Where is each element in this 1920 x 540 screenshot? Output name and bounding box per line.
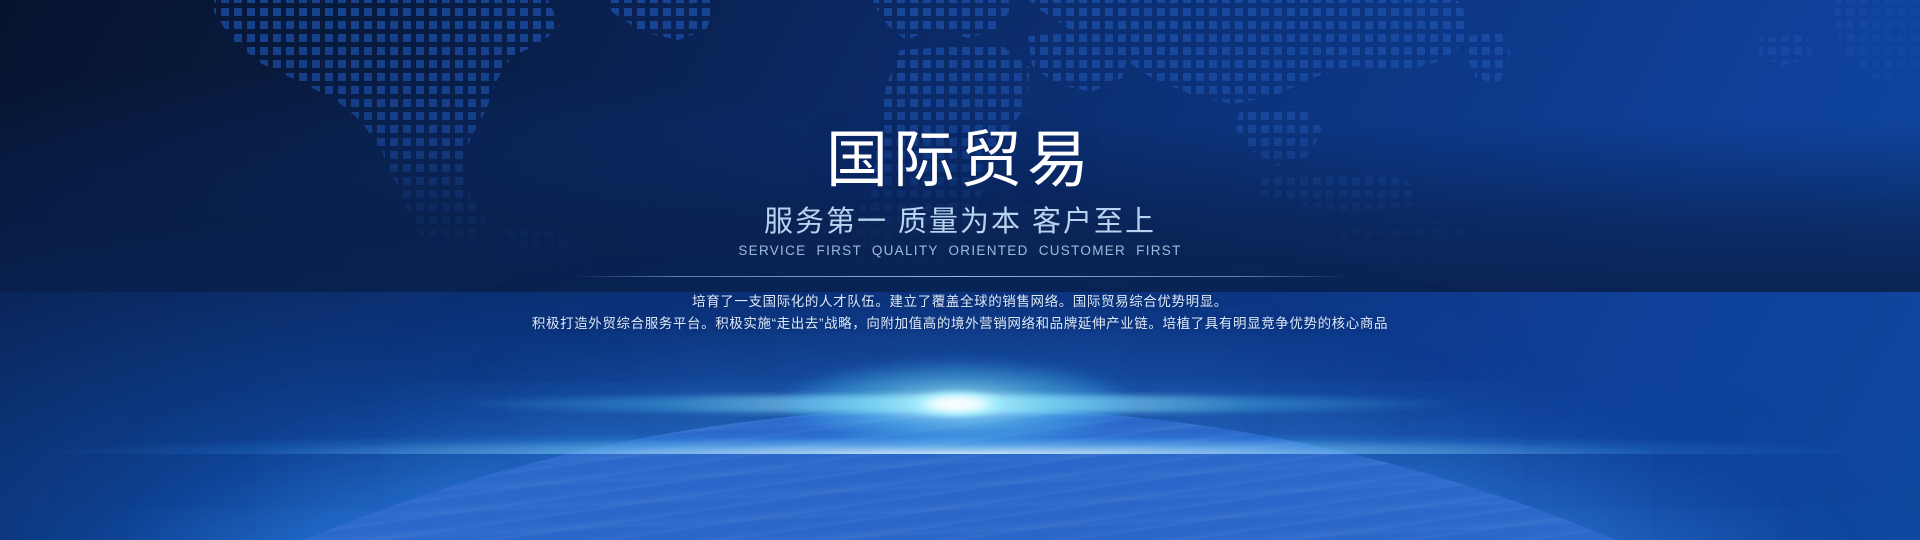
banner-content: 国际贸易 服务第一 质量为本 客户至上 SERVICE FIRST QUALIT… bbox=[0, 0, 1920, 335]
earth-terrain-texture bbox=[0, 408, 1920, 540]
subtitle-chinese: 服务第一 质量为本 客户至上 bbox=[0, 207, 1920, 239]
flare-halo bbox=[787, 362, 1127, 446]
subtitle-english: SERVICE FIRST QUALITY ORIENTED CUSTOMER … bbox=[0, 244, 1920, 259]
earth-sphere bbox=[0, 408, 1920, 540]
description-line-2: 积极打造外贸综合服务平台。积极实施“走出去”战略，向附加值高的境外营销网络和品牌… bbox=[0, 313, 1920, 335]
flare-streak bbox=[437, 395, 1477, 413]
earth-cloud-layer bbox=[0, 408, 1920, 540]
description-line-1: 培育了一支国际化的人才队伍。建立了覆盖全球的销售网络。国际贸易综合优势明显。 bbox=[0, 291, 1920, 313]
flare-core bbox=[909, 391, 1005, 417]
page-title: 国际贸易 bbox=[0, 0, 1920, 193]
description-block: 培育了一支国际化的人才队伍。建立了覆盖全球的销售网络。国际贸易综合优势明显。 积… bbox=[0, 277, 1920, 335]
international-trade-banner: 国际贸易 服务第一 质量为本 客户至上 SERVICE FIRST QUALIT… bbox=[0, 0, 1920, 540]
earth-rim-light bbox=[0, 394, 1920, 454]
